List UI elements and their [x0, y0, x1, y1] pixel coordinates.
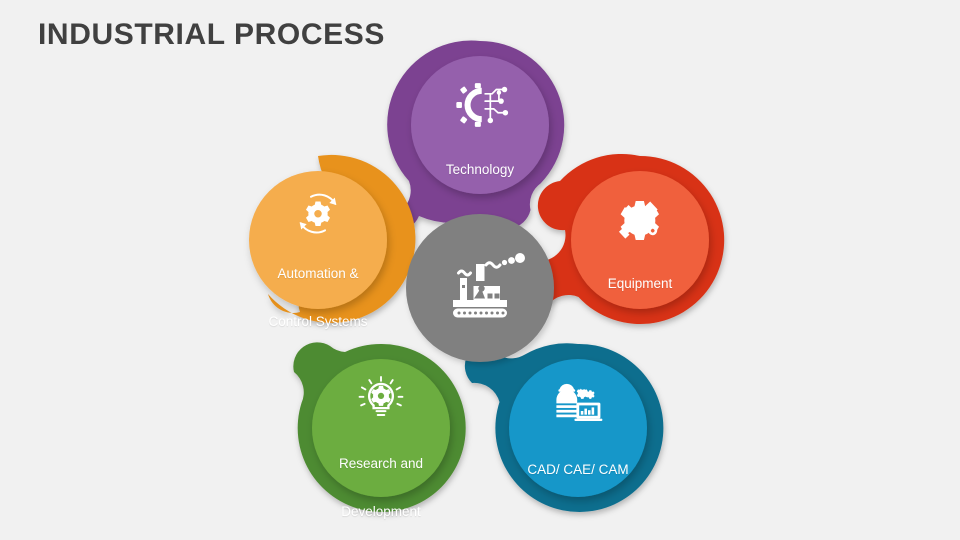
slide-canvas: INDUSTRIAL PROCESS — [0, 0, 960, 540]
node-research-and-development[interactable] — [312, 359, 450, 497]
node-equipment[interactable] — [571, 171, 709, 309]
node-cad-cae-cam[interactable] — [509, 359, 647, 497]
node-technology[interactable] — [411, 56, 549, 194]
industrial-process-diagram — [0, 0, 960, 540]
center-hub[interactable] — [406, 214, 554, 362]
node-automation-and-control-systems[interactable] — [249, 171, 387, 309]
